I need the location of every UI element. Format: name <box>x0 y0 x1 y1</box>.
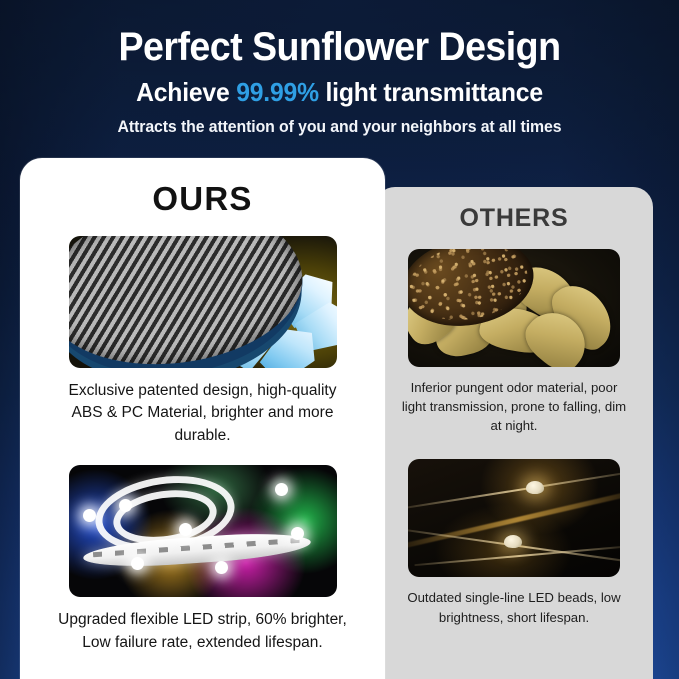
caption-others-2: Outdated single-line LED beads, low brig… <box>400 588 628 626</box>
led-bead <box>526 481 544 494</box>
caption-ours-1: Exclusive patented design, high-quality … <box>53 380 353 447</box>
card-heading-others: OTHERS <box>375 204 653 233</box>
dim-sunflower-photo <box>408 249 620 367</box>
page-tagline: Attracts the attention of you and your n… <box>14 118 666 137</box>
page-title: Perfect Sunflower Design <box>20 26 658 68</box>
subtitle-prefix: Achieve <box>136 77 236 107</box>
caption-others-1: Inferior pungent odor material, poor lig… <box>400 378 628 435</box>
header: Perfect Sunflower Design Achieve 99.99% … <box>0 0 679 137</box>
rgb-led-strip-photo <box>69 465 337 597</box>
subtitle-highlight-value: 99.99% <box>236 77 319 107</box>
led-bead <box>504 535 522 548</box>
comparison-card-ours: OURS Exclusive patented design, high-qua… <box>20 158 385 679</box>
dim-single-line-led-beads-photo <box>408 459 620 577</box>
subtitle-suffix: light transmittance <box>319 77 543 107</box>
card-heading-ours: OURS <box>20 180 385 218</box>
page-subtitle: Achieve 99.99% light transmittance <box>17 77 662 108</box>
comparison-card-others: OTHERS Inferior pungent odor material, p… <box>375 187 653 679</box>
caption-ours-2: Upgraded flexible LED strip, 60% brighte… <box>53 609 353 654</box>
crystalline-sunflower-cover-photo <box>69 236 337 368</box>
